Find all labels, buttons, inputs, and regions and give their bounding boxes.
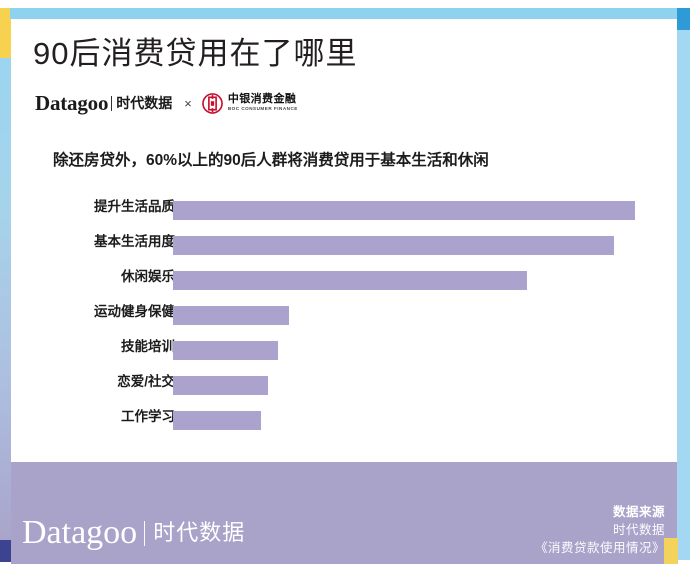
data-source-block: 数据来源 时代数据 《消费贷款使用情况》 <box>535 503 665 557</box>
chart-bar <box>173 411 261 430</box>
chart-row: 技能培训 <box>11 334 677 369</box>
chart-category-label: 技能培训 <box>15 334 175 360</box>
chart-category-label: 恋爱/社交 <box>15 369 175 395</box>
datagoo-wordmark: Datagoo <box>35 93 108 114</box>
boc-text-block: 中银消费金融 BOC CONSUMER FINANCE <box>228 94 298 112</box>
chart-row: 运动健身保健 <box>11 299 677 334</box>
page-title: 90后消费贷用在了哪里 <box>33 28 357 73</box>
chart-headline: 除还房贷外，60%以上的90后人群将消费贷用于基本生活和休闲 <box>53 148 489 170</box>
boc-chinese-name: 中银消费金融 <box>228 94 298 105</box>
chart-category-label: 基本生活用度 <box>15 229 175 255</box>
brand-collab-x: × <box>184 96 192 111</box>
poster-root: 90后消费贷用在了哪里 Datagoo 时代数据 × 中银消费金融 BOC CO… <box>0 0 700 588</box>
chart-bar <box>173 236 614 255</box>
content-card: 90后消费贷用在了哪里 Datagoo 时代数据 × 中银消费金融 BOC CO… <box>11 19 677 462</box>
chart-category-label: 提升生活品质 <box>15 194 175 220</box>
decor-right-blue-strip <box>677 8 690 560</box>
brand-divider <box>111 96 112 111</box>
chart-row: 休闲娱乐 <box>11 264 677 299</box>
bar-chart: 提升生活品质基本生活用度休闲娱乐运动健身保健技能培训恋爱/社交工作学习 <box>11 194 677 439</box>
chart-row: 基本生活用度 <box>11 229 677 264</box>
decor-corner-bottom-left-square <box>0 540 11 562</box>
chart-bar <box>173 376 268 395</box>
footer-datagoo-wordmark: Datagoo <box>22 516 137 550</box>
brand-lockup: Datagoo 时代数据 × 中银消费金融 BOC CONSUMER FINAN… <box>35 91 298 115</box>
decor-left-gradient-strip <box>0 58 11 553</box>
decor-top-cyan-strip <box>10 8 678 19</box>
data-source-line-2: 《消费贷款使用情况》 <box>535 539 665 557</box>
boc-english-name: BOC CONSUMER FINANCE <box>228 107 298 112</box>
decor-corner-top-right-square <box>677 8 690 30</box>
footer-brand-lockup: Datagoo 时代数据 <box>22 516 245 550</box>
chart-category-label: 运动健身保健 <box>15 299 175 325</box>
footer-chinese-name: 时代数据 <box>153 522 245 544</box>
data-source-title: 数据来源 <box>535 503 665 521</box>
chart-bar <box>173 271 527 290</box>
decor-corner-bottom-right-square <box>664 538 678 564</box>
footer-brand-divider <box>144 521 145 546</box>
chart-row: 提升生活品质 <box>11 194 677 229</box>
data-source-line-1: 时代数据 <box>535 521 665 539</box>
boc-consumer-finance-logo-icon <box>202 93 223 114</box>
datagoo-chinese-name: 时代数据 <box>116 96 172 110</box>
chart-category-label: 工作学习 <box>15 404 175 430</box>
chart-bar <box>173 201 635 220</box>
chart-bar <box>173 306 289 325</box>
chart-category-label: 休闲娱乐 <box>15 264 175 290</box>
chart-row: 恋爱/社交 <box>11 369 677 404</box>
chart-row: 工作学习 <box>11 404 677 439</box>
chart-bar <box>173 341 278 360</box>
